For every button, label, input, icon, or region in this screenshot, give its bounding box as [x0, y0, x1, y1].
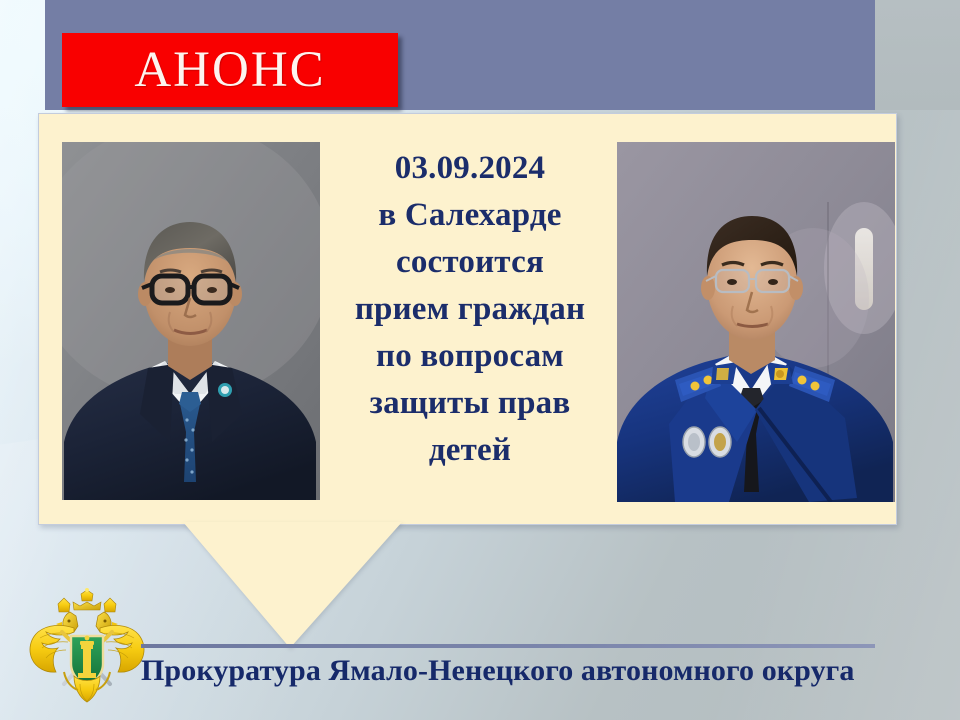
- prosecutor-portrait-right: [617, 142, 895, 502]
- prosecutor-office-emblem: [26, 588, 148, 710]
- announcement-line-3: состоится: [316, 239, 624, 286]
- official-portrait-left: [62, 142, 320, 500]
- footer-organization: Прокуратура Ямало-Ненецкого автономного …: [141, 651, 901, 691]
- anons-banner-label: АНОНС: [134, 45, 325, 96]
- announcement-line-7: детей: [316, 427, 624, 474]
- announcement-line-2: в Салехарде: [316, 192, 624, 239]
- header-right-column: [875, 0, 960, 110]
- announcement-line-6: защиты прав: [316, 380, 624, 427]
- speech-bubble-tail: [183, 522, 402, 648]
- announcement-line-4: прием граждан: [316, 286, 624, 333]
- footer-divider: [141, 644, 875, 648]
- announcement-line-5: по вопросам: [316, 333, 624, 380]
- anons-banner: АНОНС: [62, 33, 398, 107]
- announcement-line-1: 03.09.2024: [316, 145, 624, 192]
- announcement-poster: АНОНС: [0, 0, 960, 720]
- announcement-text: 03.09.2024 в Салехарде состоится прием г…: [316, 145, 624, 474]
